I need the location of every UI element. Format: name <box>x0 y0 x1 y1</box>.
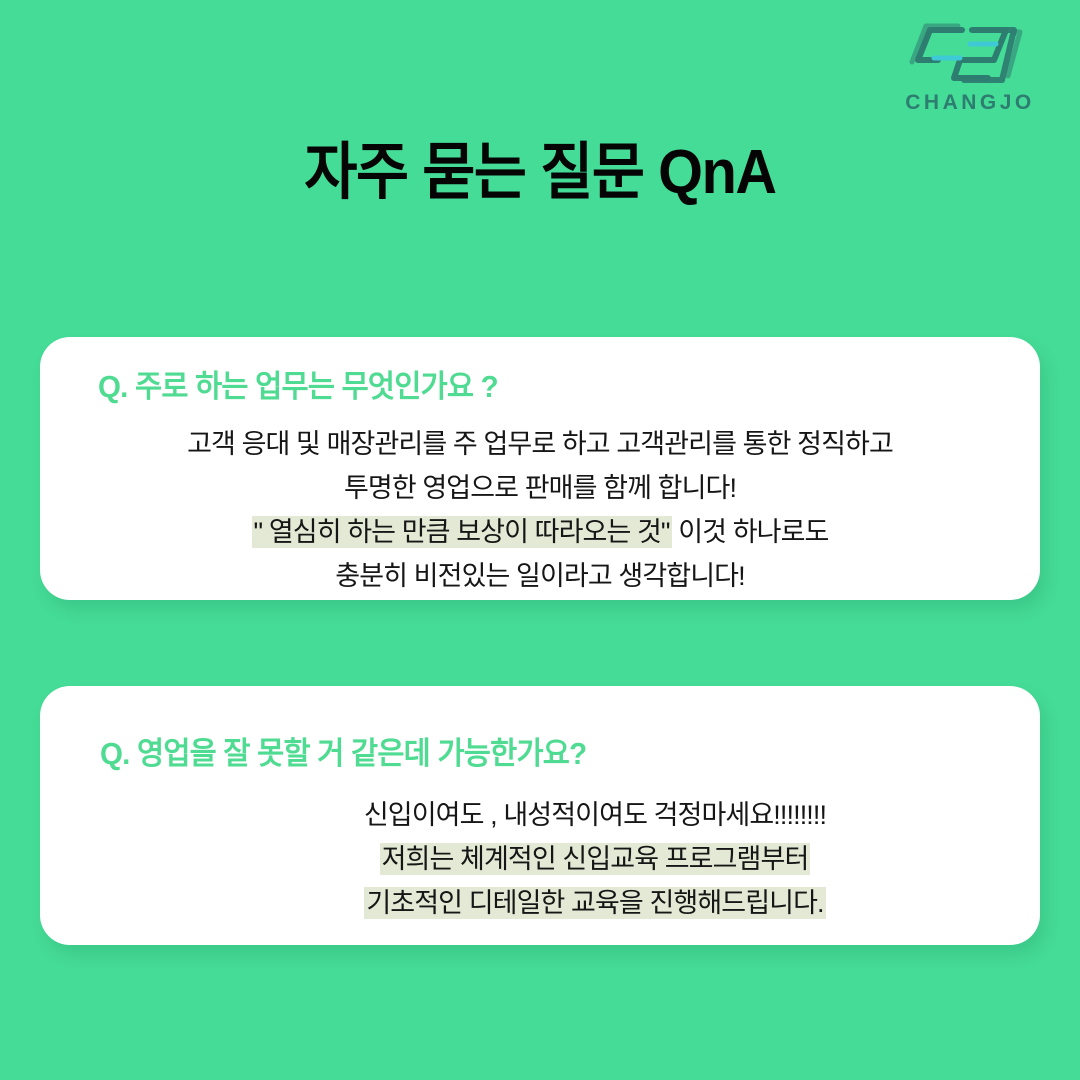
answer-text: 고객 응대 및 매장관리를 주 업무로 하고 고객관리를 통한 정직하고 <box>187 429 893 459</box>
answer-text: 이것 하나로도 <box>672 517 829 547</box>
faq-answer-line: 저희는 체계적인 신입교육 프로그램부터 <box>184 838 1006 882</box>
answer-text: 투명한 영업으로 판매를 함께 합니다! <box>344 473 736 503</box>
faq-question: Q. 영업을 잘 못할 거 같은데 가능한가요? <box>100 734 961 774</box>
faq-answer-line: 충분히 비전있는 일이라고 생각합니다! <box>74 555 1006 599</box>
faq-answer-line: 신입이여도 , 내성적이여도 걱정마세요!!!!!!!! <box>184 794 1006 838</box>
brand-wordmark: CHANGJO <box>905 92 1035 113</box>
faq-answer-line: 고객 응대 및 매장관리를 주 업무로 하고 고객관리를 통한 정직하고 <box>74 423 1006 467</box>
faq-answer-line: 기초적인 디테일한 교육을 진행해드립니다. <box>184 882 1006 926</box>
page-title: 자주 묻는 질문 QnA <box>38 137 1042 208</box>
faq-poster: CHANGJO 자주 묻는 질문 QnA Q. 주로 하는 업무는 무엇인가요 … <box>0 0 1080 1080</box>
changjo-cj-monogram-icon <box>908 22 1032 88</box>
faq-card: Q. 영업을 잘 못할 거 같은데 가능한가요? 신입이여도 , 내성적이여도 … <box>40 686 1040 945</box>
brand-logo: CHANGJO <box>890 22 1050 113</box>
faq-answer: 신입이여도 , 내성적이여도 걱정마세요!!!!!!!!저희는 체계적인 신입교… <box>74 794 1006 925</box>
highlighted-text: 기초적인 디테일한 교육을 진행해드립니다. <box>364 887 825 919</box>
faq-question: Q. 주로 하는 업무는 무엇인가요 ? <box>98 367 961 407</box>
faq-answer-line: 투명한 영업으로 판매를 함께 합니다! <box>74 467 1006 511</box>
faq-card: Q. 주로 하는 업무는 무엇인가요 ? 고객 응대 및 매장관리를 주 업무로… <box>40 337 1040 600</box>
answer-text: 충분히 비전있는 일이라고 생각합니다! <box>335 561 744 591</box>
highlighted-text: 저희는 체계적인 신입교육 프로그램부터 <box>380 843 811 875</box>
answer-text: 신입이여도 , 내성적이여도 걱정마세요!!!!!!!! <box>364 800 826 830</box>
highlighted-text: " 열심히 하는 만큼 보상이 따라오는 것" <box>252 516 672 548</box>
faq-answer-line: " 열심히 하는 만큼 보상이 따라오는 것" 이것 하나로도 <box>74 511 1006 555</box>
faq-answer: 고객 응대 및 매장관리를 주 업무로 하고 고객관리를 통한 정직하고투명한 … <box>74 423 1006 598</box>
